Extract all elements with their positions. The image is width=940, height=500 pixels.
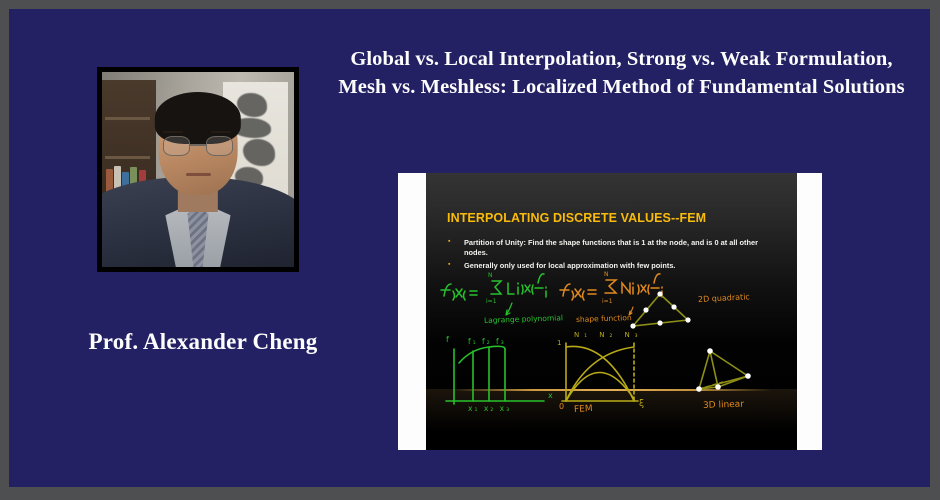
photo-eyeglass-left [163, 136, 190, 156]
bookshelf-row [105, 117, 150, 120]
photo-eyebrow [211, 131, 230, 133]
presentation-canvas: Global vs. Local Interpolation, Strong v… [9, 9, 930, 487]
axis-label-xi: ξ [639, 399, 644, 409]
node-value-labels: f₁ f₂ f₃ [468, 337, 506, 346]
bookshelf-row [105, 156, 150, 159]
svg-text:N: N [488, 272, 493, 279]
photo-eyebrow [163, 131, 182, 133]
node-position-labels: x₁ x₂ x₃ [468, 404, 511, 413]
axis-label-f: f [446, 335, 449, 344]
pillarbox-right [797, 173, 822, 450]
photo-eyeglass-right [206, 136, 233, 156]
presentation-frame: Global vs. Local Interpolation, Strong v… [0, 0, 940, 500]
speaker-photo-frame [97, 67, 299, 272]
label-fem: FEM [574, 404, 593, 415]
svg-text:i=1: i=1 [486, 298, 497, 305]
axis-label-one: 1 [557, 339, 561, 347]
ink-stroke [243, 139, 276, 166]
label-3d-linear: 3D linear [703, 400, 744, 411]
label-shape-function: shape function [576, 313, 632, 324]
slide-thumbnail[interactable]: INTERPOLATING DISCRETE VALUES--FEM Parti… [398, 173, 822, 450]
slide-content: INTERPOLATING DISCRETE VALUES--FEM Parti… [426, 173, 797, 450]
pillarbox-left [398, 173, 426, 450]
svg-text:N: N [604, 271, 609, 278]
ink-stroke [237, 93, 267, 117]
photo-eyeglass-bridge [189, 144, 205, 146]
speaker-name: Prof. Alexander Cheng [55, 329, 351, 355]
lecture-title: Global vs. Local Interpolation, Strong v… [334, 45, 909, 101]
photo-mouth [186, 173, 211, 175]
speaker-photo [102, 72, 294, 267]
shape-function-labels: N₁ N₂ N₃ [574, 331, 643, 339]
svg-text:i=1: i=1 [602, 298, 613, 305]
axis-label-x: x [548, 391, 553, 400]
handwritten-annotations: N i=1 [426, 173, 797, 450]
axis-label-zero: 0 [559, 402, 564, 411]
